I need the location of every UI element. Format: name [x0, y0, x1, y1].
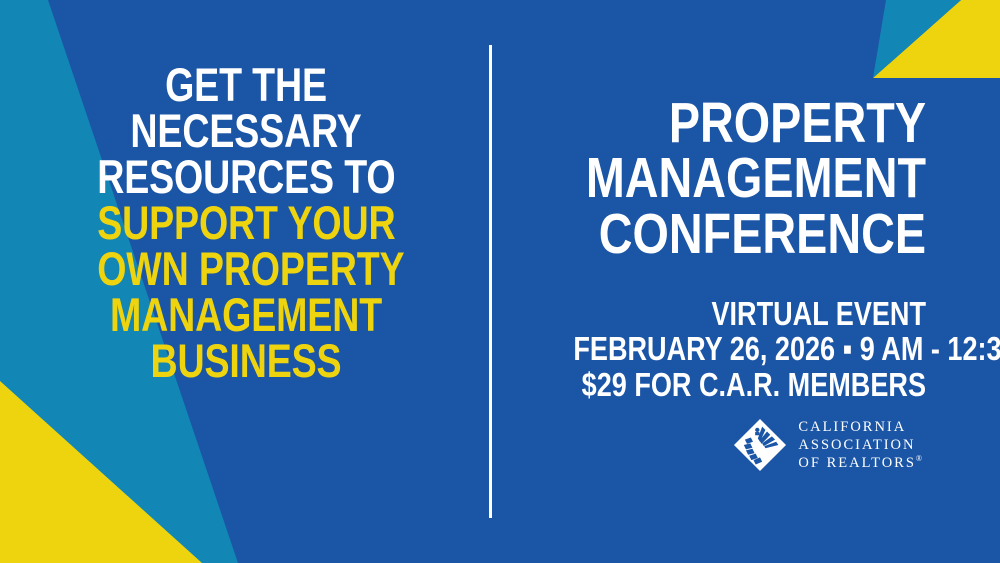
- logo-line-of-realtors: OF REALTORS®: [798, 455, 922, 471]
- logo-line-california: CALIFORNIA: [798, 419, 922, 435]
- headline-line-7: BUSINESS: [97, 338, 395, 384]
- headline-line-3: RESOURCES TO: [97, 154, 395, 200]
- vertical-divider: [489, 45, 492, 518]
- logo-of-realtors-text: OF REALTORS: [798, 455, 916, 471]
- event-title-line-1: PROPERTY: [573, 96, 926, 151]
- headline-line-6: MANAGEMENT: [97, 292, 395, 338]
- headline-line-2: NECESSARY: [97, 108, 395, 154]
- logo-wordmark: CALIFORNIA ASSOCIATION OF REALTORS®: [798, 419, 922, 472]
- headline-line-1: GET THE: [97, 62, 395, 108]
- registered-trademark-mark: ®: [916, 454, 922, 463]
- headline: GET THE NECESSARY RESOURCES TO SUPPORT Y…: [97, 62, 395, 384]
- left-headline-block: GET THE NECESSARY RESOURCES TO SUPPORT Y…: [60, 62, 432, 384]
- event-title-line-3: CONFERENCE: [573, 207, 926, 262]
- car-logo: CALIFORNIA ASSOCIATION OF REALTORS®: [733, 418, 922, 472]
- event-date-time: FEBRUARY 26, 2026 ▪ 9 AM - 12:30 PM: [573, 331, 926, 367]
- event-promo-banner: GET THE NECESSARY RESOURCES TO SUPPORT Y…: [0, 0, 1000, 563]
- event-title: PROPERTY MANAGEMENT CONFERENCE: [573, 96, 926, 262]
- event-details: VIRTUAL EVENT FEBRUARY 26, 2026 ▪ 9 AM -…: [573, 296, 926, 403]
- event-info-block: PROPERTY MANAGEMENT CONFERENCE VIRTUAL E…: [496, 96, 926, 403]
- event-format: VIRTUAL EVENT: [573, 296, 926, 332]
- event-title-line-2: MANAGEMENT: [573, 151, 926, 206]
- california-association-of-realtors-emblem-icon: [733, 418, 787, 472]
- event-price: $29 FOR C.A.R. MEMBERS: [573, 367, 926, 403]
- headline-line-4: SUPPORT YOUR: [97, 200, 395, 246]
- logo-line-association: ASSOCIATION: [798, 437, 922, 453]
- headline-line-5: OWN PROPERTY: [97, 246, 395, 292]
